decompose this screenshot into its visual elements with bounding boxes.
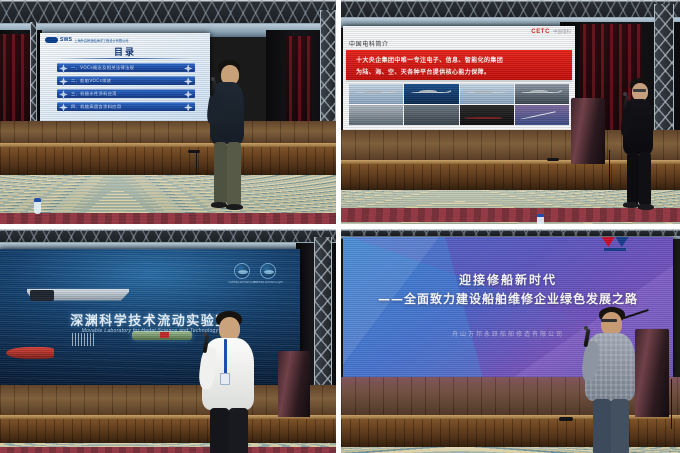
ceiling-truss <box>341 0 680 20</box>
shoe-left <box>623 202 639 208</box>
stage-cable <box>671 379 672 429</box>
collage-panel-bottom-right: 迎接修船新时代 ——全面致力建设船舶维修企业绿色发展之路 舟山万邦永跃船舶修造有… <box>341 229 680 453</box>
photo-vehicle-dark <box>460 105 514 125</box>
shoe-right <box>638 204 654 210</box>
emblem-left-caption: institute-emblem-left <box>228 281 255 284</box>
slide-sws-contents: SWS 上海外高桥造船海洋工程设计有限公司 目录 一、VOCs概念及相关法律法规… <box>40 33 210 121</box>
banquet-carpet <box>0 175 336 224</box>
speaker-male-grey-shirt <box>581 307 643 453</box>
slide-title-line-1: 迎接修船新时代 <box>343 271 673 288</box>
speaker-male-white-polo <box>198 311 264 453</box>
floor-microphone-stand <box>559 417 573 421</box>
leg-left <box>593 399 611 453</box>
podium <box>571 98 605 164</box>
slide-title: 目录 <box>40 45 210 58</box>
contents-item-2-label: 二、船舶VOCs排放 <box>71 78 111 84</box>
photo-aircraft-2 <box>404 84 458 104</box>
eyeglasses <box>601 319 617 322</box>
banner-line-1: 十大央企集团中唯一专注电子、信息、智能化的集团 <box>356 55 572 64</box>
banner-line-2: 为陆、海、空、天各种平台提供核心能力保障。 <box>356 67 572 76</box>
cetc-logo: CETC 中国电科 <box>531 29 571 35</box>
water-bottle <box>34 198 41 214</box>
list-item: 三、机舱水性涂料应用 <box>57 89 195 98</box>
stage-cable <box>196 152 197 174</box>
water-bottle <box>537 214 544 224</box>
photo-ground-equipment <box>349 105 403 125</box>
leg-left <box>210 408 229 453</box>
sws-logo-text: SWS <box>60 37 72 43</box>
conference-room-scene: 迎接修船新时代 ——全面致力建设船舶维修企业绿色发展之路 舟山万邦永跃船舶修造有… <box>341 229 680 453</box>
institute-emblem-right: institute-emblem-right <box>260 263 276 279</box>
badge <box>220 373 230 385</box>
stage-front-panel <box>0 419 336 443</box>
list-item: 四、机舱高固含涂料应用 <box>57 102 195 111</box>
lanyard <box>224 339 227 375</box>
collage-panel-top-right: CETC 中国电科 中国电科简介 十大央企集团中唯一专注电子、信息、智能化的集团… <box>341 0 680 224</box>
floor-microphone-stand <box>188 150 200 153</box>
collage-panel-top-left: SWS 上海外高桥造船海洋工程设计有限公司 目录 一、VOCs概念及相关法律法规… <box>0 0 336 224</box>
microphone-head <box>584 326 588 330</box>
leg-right <box>227 142 241 206</box>
microphone-head <box>623 92 627 96</box>
led-screen: SWS 上海外高桥造船海洋工程设计有限公司 目录 一、VOCs概念及相关法律法规… <box>40 33 210 121</box>
microphone-head <box>211 77 215 81</box>
logo-base-bar <box>604 248 626 251</box>
floor-microphone-stand <box>547 158 559 161</box>
list-item: 一、VOCs概念及相关法律法规 <box>57 63 195 72</box>
speaker-female-suit <box>619 78 663 223</box>
slide-cetc-intro: CETC 中国电科 中国电科简介 十大央企集团中唯一专注电子、信息、智能化的集团… <box>343 26 575 130</box>
podium-cable <box>609 150 610 190</box>
photo-aircraft-3 <box>460 84 514 104</box>
conference-room-scene: SWS 上海外高桥造船海洋工程设计有限公司 目录 一、VOCs概念及相关法律法规… <box>0 0 336 224</box>
logo-blue-chevron <box>614 237 630 247</box>
logo-red-chevron <box>600 237 616 247</box>
stage-front-panel <box>0 147 336 175</box>
carpet-red-band <box>0 213 336 224</box>
eyeglasses <box>633 89 646 92</box>
slide-heading: 中国电科简介 <box>349 39 389 48</box>
podium <box>278 351 310 417</box>
shoe-right <box>226 204 243 210</box>
led-screen: CETC 中国电科 中国电科简介 十大央企集团中唯一专注电子、信息、智能化的集团… <box>343 26 575 130</box>
collage-panel-bottom-left: institute-emblem-left institute-emblem-r… <box>0 229 336 453</box>
company-chevron-logo <box>600 237 630 252</box>
sws-company-name: 上海外高桥造船海洋工程设计有限公司 <box>74 38 128 43</box>
slide-title-line-2: ——全面致力建设船舶维修企业绿色发展之路 <box>343 290 673 307</box>
conference-room-scene: CETC 中国电科 中国电科简介 十大央企集团中唯一专注电子、信息、智能化的集团… <box>341 0 680 224</box>
leg-right <box>229 408 248 453</box>
contents-item-4-label: 四、机舱高固含涂料应用 <box>71 104 121 110</box>
microphone-head <box>203 332 207 336</box>
institute-emblem-left: institute-emblem-left <box>234 263 250 279</box>
shoe-left <box>211 202 227 208</box>
banquet-carpet <box>0 443 336 453</box>
leg-left <box>214 142 227 204</box>
seafloor-node <box>30 290 54 301</box>
ceiling-truss <box>0 0 336 26</box>
red-banner: 十大央企集团中唯一专注电子、信息、智能化的集团 为陆、海、空、天各种平台提供核心… <box>346 50 572 80</box>
cetc-company-name: 中国电科 <box>553 29 571 35</box>
contents-item-1-label: 一、VOCs概念及相关法律法规 <box>71 65 134 71</box>
speaker-male-navy <box>206 60 254 220</box>
leg-left <box>627 152 639 204</box>
sws-logo-mark <box>45 37 58 43</box>
photo-aircraft-1 <box>349 84 403 104</box>
photo-radar-aircraft <box>515 84 569 104</box>
conference-room-scene: institute-emblem-left institute-emblem-r… <box>0 229 336 453</box>
stage-floor <box>0 121 336 143</box>
photo-collage: SWS 上海外高桥造船海洋工程设计有限公司 目录 一、VOCs概念及相关法律法规… <box>0 0 680 453</box>
lander-frame <box>72 333 96 345</box>
contents-item-3-label: 三、机舱水性涂料应用 <box>71 91 117 97</box>
carpet-red-band <box>0 447 336 453</box>
leg-right <box>639 152 651 206</box>
institute-emblems: institute-emblem-left institute-emblem-r… <box>234 263 276 279</box>
sws-logo: SWS 上海外高桥造船海洋工程设计有限公司 <box>45 37 128 43</box>
title-rule <box>57 58 193 59</box>
submersible-red <box>6 347 54 359</box>
photo-antenna-array <box>404 105 458 125</box>
leg-right <box>611 399 629 453</box>
cetc-logo-text: CETC <box>531 29 550 35</box>
list-item: 二、船舶VOCs排放 <box>57 76 195 85</box>
photo-strip <box>349 84 569 125</box>
emblem-right-caption: institute-emblem-right <box>253 281 282 284</box>
photo-missile-sea <box>515 105 569 125</box>
contents-list: 一、VOCs概念及相关法律法规 二、船舶VOCs排放 三、机舱水性涂料应用 四、… <box>57 63 195 111</box>
